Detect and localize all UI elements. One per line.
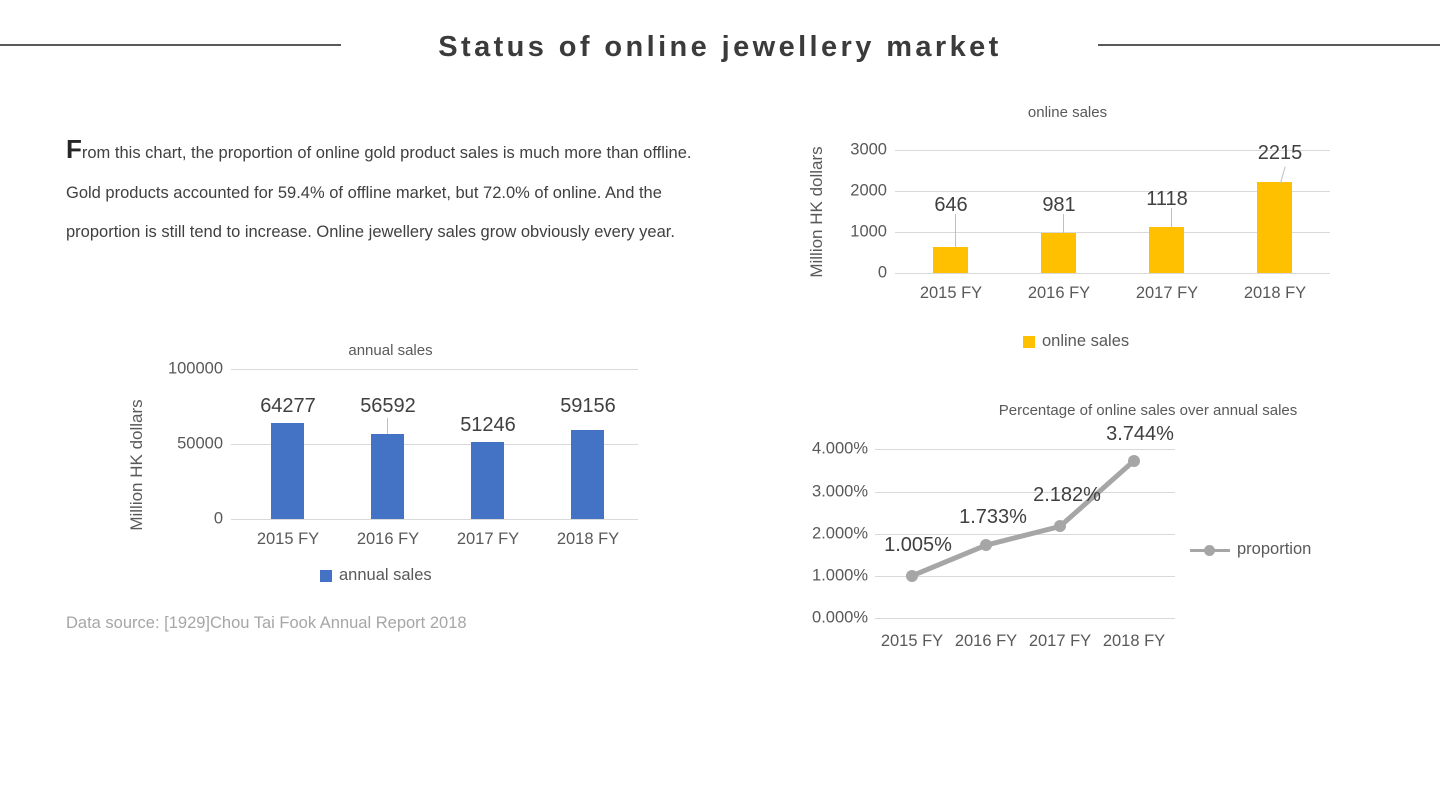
chart-online-sales: online sales Million HK dollars 3000 200… [795,104,1340,359]
ytick-0: 0 [815,264,887,283]
legend-label-online-sales: online sales [1042,332,1129,351]
data-source-caption: Data source: [1929]Chou Tai Fook Annual … [66,614,467,633]
data-label-2018: 2215 [1258,142,1303,165]
bar-2018[interactable] [1257,182,1292,273]
ytick-2000: 2000 [815,182,887,201]
leader-line-2015 [955,214,956,247]
xtick-2015: 2015 FY [901,284,1001,303]
legend-swatch-icon [320,570,332,582]
data-label-2015: 64277 [260,395,316,418]
legend-annual-sales[interactable]: annual sales [320,566,432,585]
bar-2015[interactable] [271,423,304,519]
xtick-2017: 2017 FY [438,530,538,549]
chart-annual-sales: annual sales Million HK dollars 100000 5… [118,340,663,595]
paragraph-dropcap: F [66,134,82,164]
bar-2018[interactable] [571,430,604,519]
xtick-2016: 2016 FY [949,632,1023,651]
data-point-2015[interactable] [906,570,918,582]
page-title: Status of online jewellery market [0,31,1440,64]
paragraph-body: rom this chart, the proportion of online… [66,144,692,241]
data-label-2018: 3.744% [1106,423,1174,446]
chart-online-sales-title: online sales [795,104,1340,121]
data-label-2016: 981 [1042,194,1075,217]
data-label-2018: 59156 [560,395,616,418]
legend-label-proportion: proportion [1237,540,1311,559]
data-label-2016: 1.733% [959,506,1027,529]
xtick-2016: 2016 FY [1009,284,1109,303]
legend-swatch-icon [1023,336,1035,348]
xtick-2018: 2018 FY [1097,632,1171,651]
xtick-2017: 2017 FY [1023,632,1097,651]
xtick-2017: 2017 FY [1117,284,1217,303]
data-point-2016[interactable] [980,539,992,551]
legend-online-sales[interactable]: online sales [1023,332,1129,351]
leader-line-2018 [1280,167,1286,184]
slide-canvas: Status of online jewellery market From t… [0,0,1440,810]
data-point-2017[interactable] [1054,520,1066,532]
xtick-2015: 2015 FY [238,530,338,549]
xtick-2015: 2015 FY [875,632,949,651]
bar-2017[interactable] [471,442,504,519]
ytick-100000: 100000 [110,360,223,379]
gridline-0 [895,273,1330,274]
ytick-0: 0 [110,510,223,529]
data-label-2015: 1.005% [884,534,952,557]
ytick-1000: 1000 [815,223,887,242]
bar-2016[interactable] [1041,233,1076,273]
chart-proportion: Percentage of online sales over annual s… [790,398,1340,663]
bar-2016[interactable] [371,434,404,519]
proportion-line-series [790,398,1340,663]
ytick-3000: 3000 [815,141,887,160]
gridline-0 [231,519,638,520]
chart-annual-sales-title: annual sales [118,342,663,359]
xtick-2018: 2018 FY [1225,284,1325,303]
data-label-2017: 1118 [1146,188,1188,211]
data-label-2017: 51246 [460,414,516,437]
legend-label-annual-sales: annual sales [339,566,432,585]
leader-line-2016 [387,418,388,434]
data-label-2016: 56592 [360,395,416,418]
data-label-2015: 646 [934,194,967,217]
data-point-2018[interactable] [1128,455,1140,467]
data-label-2017: 2.182% [1033,484,1101,507]
intro-paragraph: From this chart, the proportion of onlin… [66,134,711,253]
bar-2015[interactable] [933,247,968,274]
gridline-100000 [231,369,638,370]
legend-proportion[interactable]: proportion [1190,540,1311,559]
ytick-50000: 50000 [110,435,223,454]
xtick-2018: 2018 FY [538,530,638,549]
xtick-2016: 2016 FY [338,530,438,549]
legend-line-marker-icon [1190,544,1230,556]
bar-2017[interactable] [1149,227,1184,273]
